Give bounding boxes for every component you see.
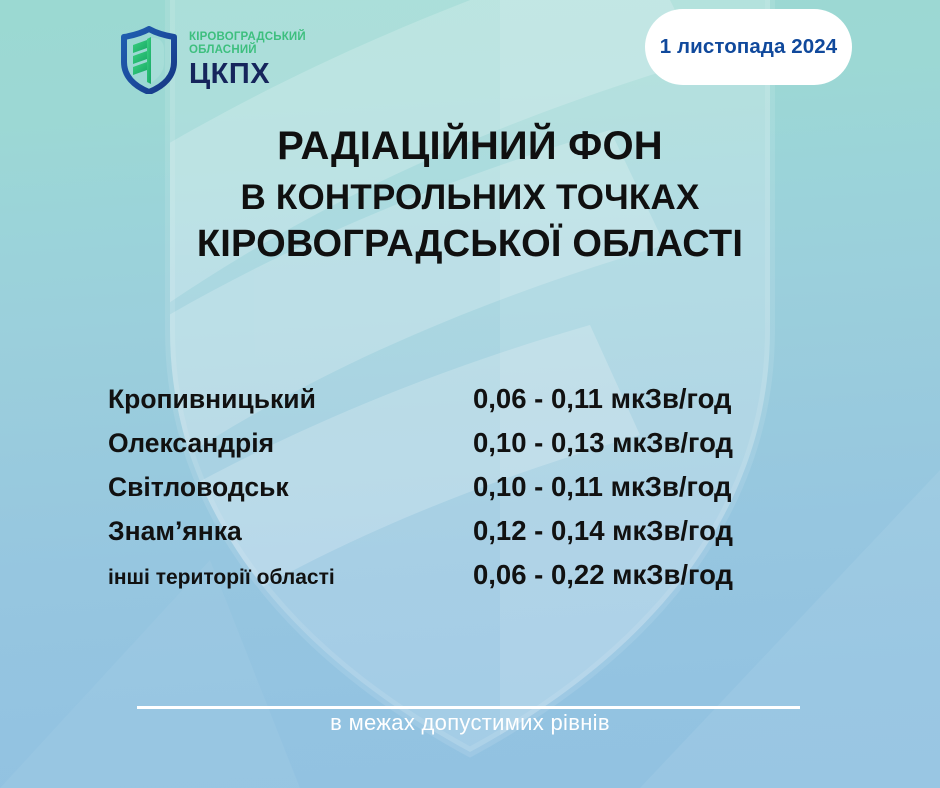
footer-note: в межах допустимих рівнів — [0, 710, 940, 736]
title-line-3: КІРОВОГРАДСЬКОЇ ОБЛАСТІ — [0, 223, 940, 266]
location-label: Олександрія — [108, 428, 473, 459]
shield-logo-icon — [118, 26, 180, 94]
table-row: інші території області 0,06 - 0,22 мкЗв/… — [108, 559, 868, 603]
logo-wordmark: КІРОВОГРАДСЬКИЙ ОБЛАСНИЙ ЦКПХ — [189, 31, 306, 89]
radiation-background-poster: КІРОВОГРАДСЬКИЙ ОБЛАСНИЙ ЦКПХ 1 листопад… — [0, 0, 940, 788]
logo-subtitle-line2: ОБЛАСНИЙ — [189, 44, 306, 57]
measurement-value: 0,10 - 0,11 мкЗв/год — [473, 471, 731, 503]
location-label: Кропивницький — [108, 384, 473, 415]
table-row: Кропивницький 0,06 - 0,11 мкЗв/год — [108, 383, 868, 427]
measurements-table: Кропивницький 0,06 - 0,11 мкЗв/год Олекс… — [108, 383, 868, 603]
measurement-value: 0,10 - 0,13 мкЗв/год — [473, 427, 733, 459]
measurement-value: 0,06 - 0,11 мкЗв/год — [473, 383, 731, 415]
table-row: Олександрія 0,10 - 0,13 мкЗв/год — [108, 427, 868, 471]
measurement-value: 0,12 - 0,14 мкЗв/год — [473, 515, 733, 547]
location-label: Світловодськ — [108, 472, 473, 503]
location-label: Знам’янка — [108, 516, 473, 547]
footer-divider — [137, 706, 800, 709]
logo-acronym: ЦКПХ — [189, 60, 306, 89]
location-label: інші території області — [108, 566, 473, 590]
logo-subtitle-line1: КІРОВОГРАДСЬКИЙ — [189, 31, 306, 44]
title-line-2: В КОНТРОЛЬНИХ ТОЧКАХ — [0, 178, 940, 218]
measurement-value: 0,06 - 0,22 мкЗв/год — [473, 559, 733, 591]
title-line-1: РАДІАЦІЙНИЙ ФОН — [0, 124, 940, 170]
date-badge: 1 листопада 2024 — [645, 9, 852, 85]
table-row: Світловодськ 0,10 - 0,11 мкЗв/год — [108, 471, 868, 515]
poster-title: РАДІАЦІЙНИЙ ФОН В КОНТРОЛЬНИХ ТОЧКАХ КІР… — [0, 124, 940, 267]
organization-logo: КІРОВОГРАДСЬКИЙ ОБЛАСНИЙ ЦКПХ — [118, 26, 306, 94]
date-badge-label: 1 листопада 2024 — [660, 35, 838, 59]
table-row: Знам’янка 0,12 - 0,14 мкЗв/год — [108, 515, 868, 559]
